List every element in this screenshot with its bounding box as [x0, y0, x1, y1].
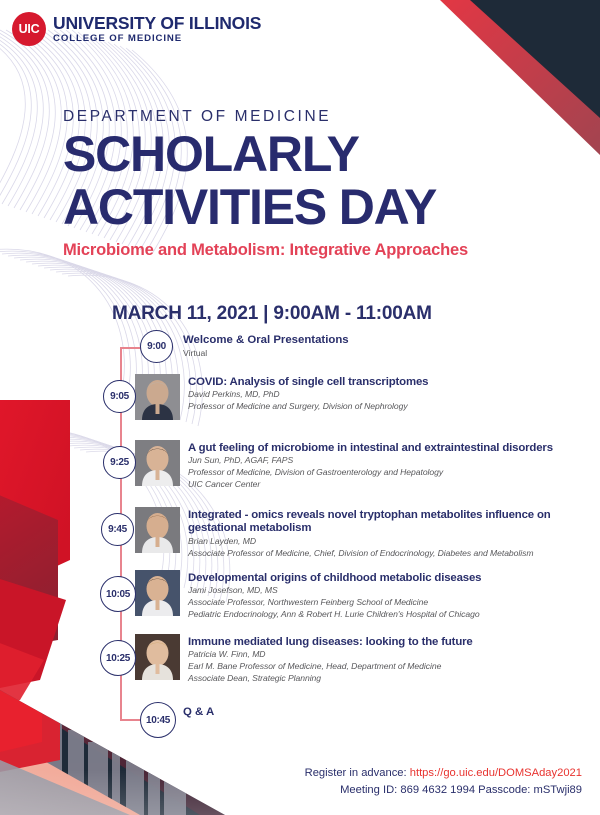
session-detail-line: Virtual [183, 348, 583, 360]
session-detail-line: Associate Dean, Strategic Planning [188, 673, 588, 685]
portrait-jami-josefson [135, 570, 180, 616]
session-title: Integrated - omics reveals novel tryptop… [188, 509, 588, 536]
time-bubble: 10:45 [140, 702, 176, 738]
session-detail-line: Jun Sun, PhD, AGAF, FAPS [188, 455, 588, 467]
timeline-connector [120, 347, 141, 349]
session-detail-line: Brian Layden, MD [188, 536, 588, 548]
poster-canvas: UIC UNIVERSITY OF ILLINOIS COLLEGE OF ME… [0, 0, 600, 815]
session-text: Integrated - omics reveals novel tryptop… [188, 507, 588, 559]
session-title: Immune mediated lung diseases: looking t… [188, 636, 588, 649]
session-title: COVID: Analysis of single cell transcrip… [188, 376, 588, 389]
register-line: Register in advance: https://go.uic.edu/… [305, 765, 582, 782]
session-title: Developmental origins of childhood metab… [188, 572, 588, 585]
schedule-item: 9:05COVID: Analysis of single cell trans… [0, 374, 600, 420]
register-label: Register in advance: [305, 767, 410, 779]
title-block: DEPARTMENT OF MEDICINE SCHOLARLY ACTIVIT… [63, 108, 468, 260]
schedule-item: 9:00Welcome & Oral PresentationsVirtual [0, 330, 600, 359]
session-detail-line: Earl M. Bane Professor of Medicine, Head… [188, 661, 588, 673]
time-bubble: 9:45 [101, 513, 134, 546]
time-bubble: 10:05 [100, 576, 136, 612]
footer-registration: Register in advance: https://go.uic.edu/… [305, 765, 582, 799]
session-text: Developmental origins of childhood metab… [188, 570, 588, 621]
session-title: Q & A [183, 706, 383, 720]
time-bubble: 9:00 [140, 330, 173, 363]
session-detail-line: Associate Professor of Medicine, Chief, … [188, 548, 588, 560]
uic-mark-icon: UIC [12, 12, 46, 46]
logo-wordmark: UNIVERSITY OF ILLINOIS COLLEGE OF MEDICI… [53, 15, 261, 44]
schedule-item: 10:25Immune mediated lung diseases: look… [0, 634, 600, 685]
event-title-line2: ACTIVITIES DAY [63, 183, 468, 232]
uic-logo: UIC UNIVERSITY OF ILLINOIS COLLEGE OF ME… [12, 12, 261, 46]
session-detail-line: Jami Josefson, MD, MS [188, 585, 588, 597]
schedule-item: 10:05Developmental origins of childhood … [0, 570, 600, 621]
session-text: COVID: Analysis of single cell transcrip… [188, 374, 588, 413]
timeline-connector [120, 719, 141, 721]
event-subtitle: Microbiome and Metabolism: Integrative A… [63, 241, 468, 260]
session-text: A gut feeling of microbiome in intestina… [188, 440, 588, 491]
session-title: A gut feeling of microbiome in intestina… [188, 442, 588, 455]
department-label: DEPARTMENT OF MEDICINE [63, 108, 468, 126]
session-detail-line: Patricia W. Finn, MD [188, 649, 588, 661]
event-title-line1: SCHOLARLY [63, 130, 468, 179]
time-bubble: 10:25 [100, 640, 136, 676]
time-bubble: 9:25 [103, 446, 136, 479]
portrait-david-perkins [135, 374, 180, 420]
logo-college-name: COLLEGE OF MEDICINE [53, 34, 261, 44]
time-bubble: 9:05 [103, 380, 136, 413]
session-detail-line: Professor of Medicine and Surgery, Divis… [188, 401, 588, 413]
portrait-patricia-finn [135, 634, 180, 680]
logo-university-name: UNIVERSITY OF ILLINOIS [53, 15, 261, 33]
meeting-id-line: Meeting ID: 869 4632 1994 Passcode: mSTw… [305, 782, 582, 799]
session-detail-line: Pediatric Endocrinology, Ann & Robert H.… [188, 609, 588, 621]
schedule-item: 9:25A gut feeling of microbiome in intes… [0, 440, 600, 491]
schedule-item: 9:45Integrated - omics reveals novel try… [0, 507, 600, 559]
portrait-brian-layden [135, 507, 180, 553]
schedule-item: 10:45Q & A [0, 702, 600, 720]
session-detail-line: Associate Professor, Northwestern Feinbe… [188, 597, 588, 609]
portrait-jun-sun [135, 440, 180, 486]
session-detail-line: UIC Cancer Center [188, 479, 588, 491]
session-text: Welcome & Oral PresentationsVirtual [183, 330, 583, 359]
register-url[interactable]: https://go.uic.edu/DOMSAday2021 [410, 767, 582, 779]
session-title: Welcome & Oral Presentations [183, 334, 583, 348]
event-date-time: MARCH 11, 2021 | 9:00AM - 11:00AM [112, 303, 432, 325]
session-detail-line: David Perkins, MD, PhD [188, 389, 588, 401]
session-detail-line: Professor of Medicine, Division of Gastr… [188, 467, 588, 479]
session-text: Q & A [183, 702, 383, 720]
session-text: Immune mediated lung diseases: looking t… [188, 634, 588, 685]
